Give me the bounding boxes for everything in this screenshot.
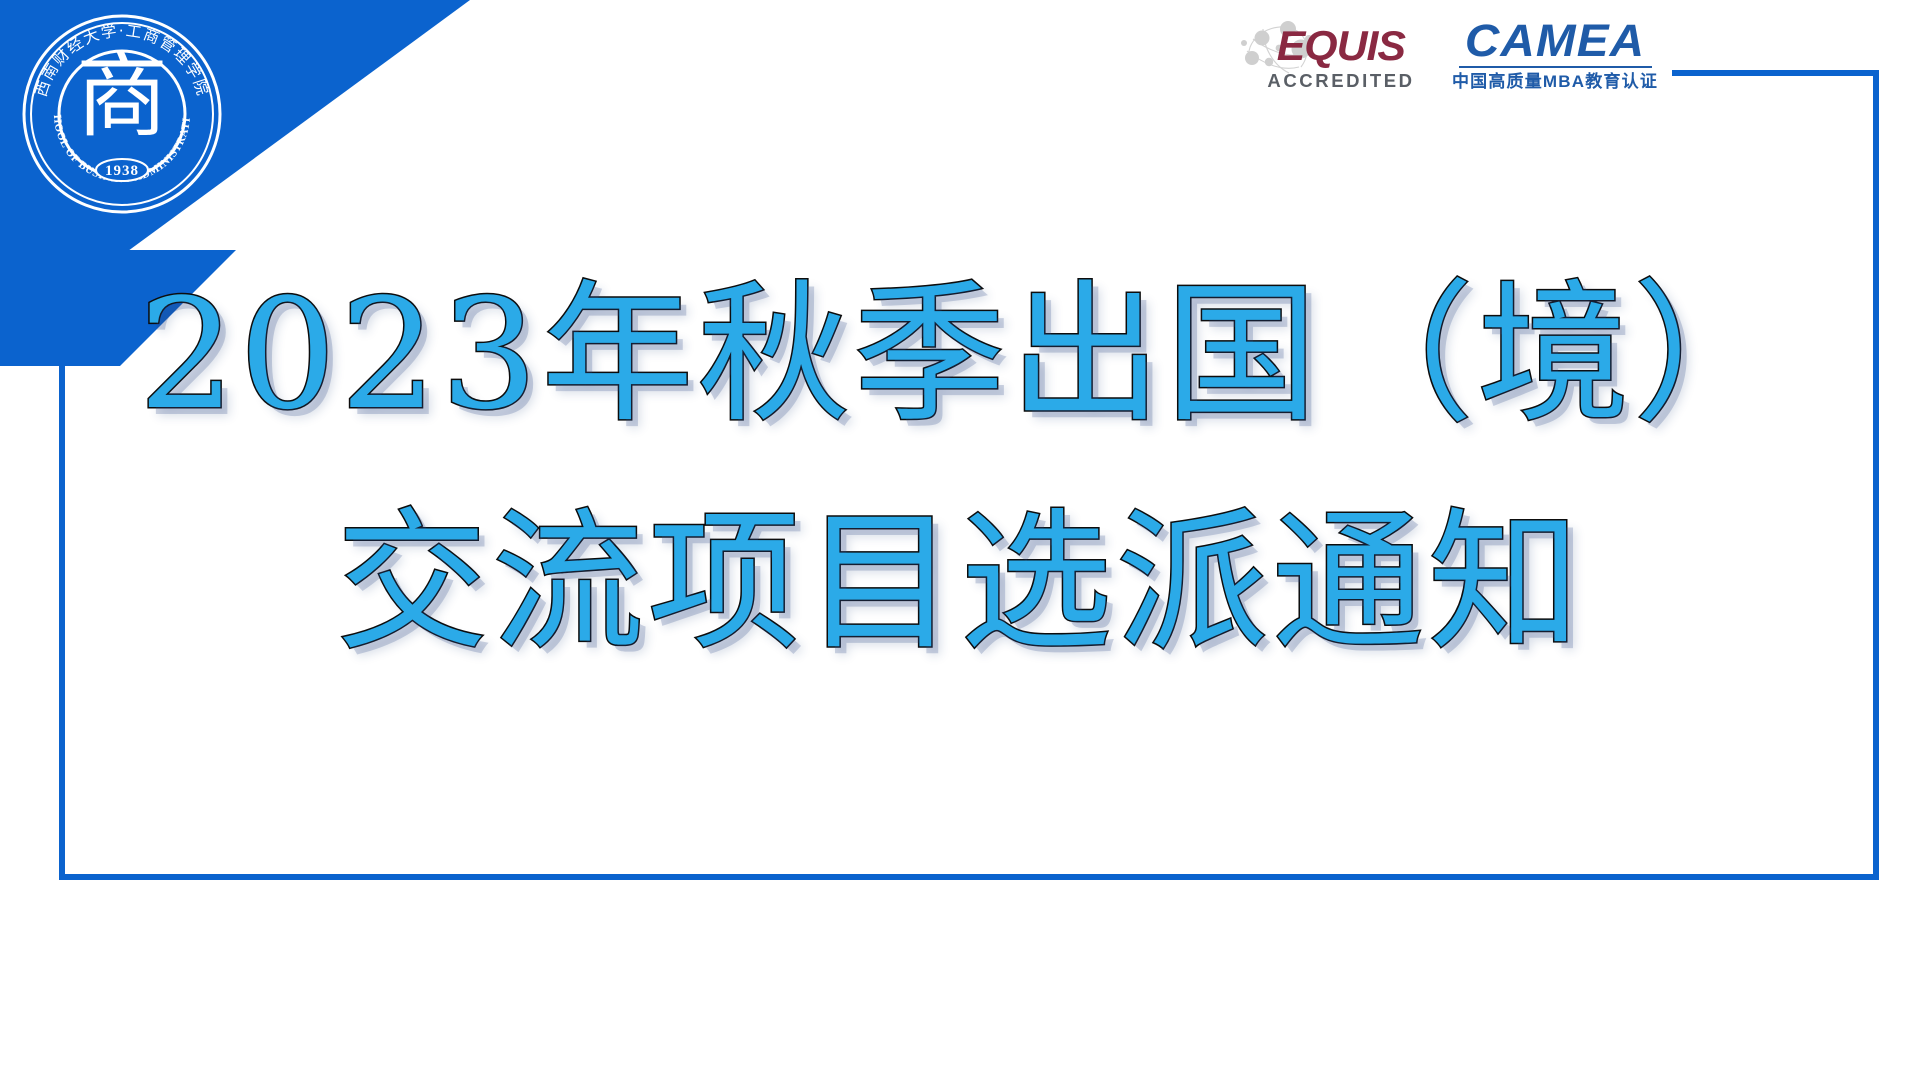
slide-canvas: 西南财经大学·工商管理学院 SCHOOL OF BUSINESS ADMINIS… [0, 0, 1920, 1080]
accreditation-logos: EQUIS ACCREDITED CAMEA 中国高质量MBA教育认证 [1245, 18, 1653, 90]
university-seal-logo: 西南财经大学·工商管理学院 SCHOOL OF BUSINESS ADMINIS… [18, 10, 226, 218]
camea-wordmark: CAMEA [1465, 18, 1645, 63]
frame-border-bottom [59, 874, 1879, 880]
frame-border-top [1672, 70, 1879, 76]
equis-accredited-logo: EQUIS ACCREDITED [1245, 25, 1415, 91]
svg-text:1938: 1938 [105, 163, 139, 179]
camea-subtitle: 中国高质量MBA教育认证 [1452, 73, 1658, 90]
equis-wordmark: EQUIS [1277, 25, 1405, 67]
slide-title: 2023年秋季出国（境） 交流项目选派通知 [0, 250, 1920, 688]
camea-divider [1459, 66, 1652, 68]
title-line-2: 交流项目选派通知 [0, 478, 1920, 688]
svg-text:商: 商 [76, 43, 168, 150]
camea-logo: CAMEA 中国高质量MBA教育认证 [1457, 18, 1653, 90]
title-line-1: 2023年秋季出国（境） [8, 250, 1920, 460]
